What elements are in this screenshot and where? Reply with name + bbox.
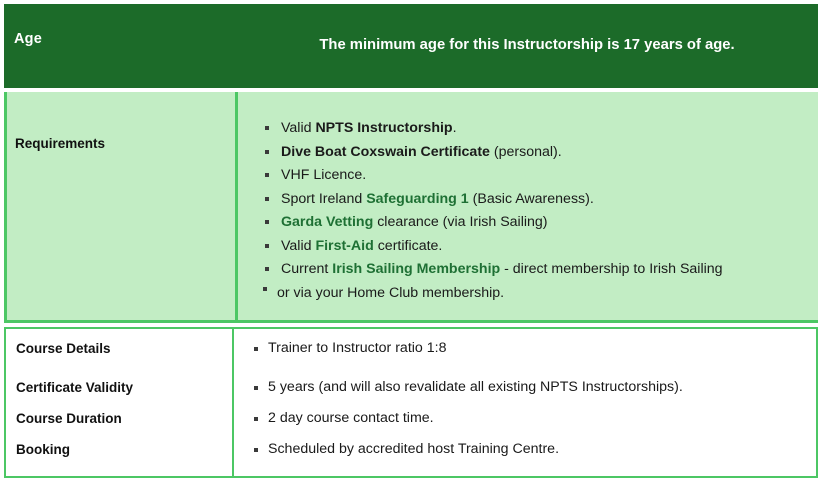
requirements-list-item: or via your Home Club membership. [259,282,808,306]
requirements-list: Valid NPTS Instructorship.Dive Boat Coxs… [259,117,808,305]
instructorship-requirements-table: Age The minimum age for this Instructors… [0,0,826,483]
detail-label-course-duration: Course Duration [16,411,122,426]
detail-value-certificate-validity: 5 years (and will also revalidate all ex… [254,379,683,395]
requirements-text-segment: Safeguarding 1 [366,191,469,207]
detail-value-text: Scheduled by accredited host Training Ce… [268,441,559,457]
age-row-value: The minimum age for this Instructorship … [236,4,818,88]
requirements-text-segment: Current [281,261,332,277]
detail-label-certificate-validity: Certificate Validity [16,380,133,395]
square-bullet-icon [254,417,258,421]
requirements-text-segment: or via your Home Club membership. [277,285,504,301]
detail-value-text: Trainer to Instructor ratio 1:8 [268,340,446,356]
detail-value-course-duration: 2 day course contact time. [254,410,434,426]
requirements-list-item: Valid NPTS Instructorship. [259,117,808,141]
square-bullet-icon [265,267,269,271]
detail-label-course-details: Course Details [16,341,111,356]
requirements-text-segment: certificate. [374,238,443,254]
requirements-text-segment: First-Aid [315,238,373,254]
requirements-text-segment: Irish Sailing Membership [332,261,500,277]
square-bullet-icon [254,448,258,452]
detail-value-booking: Scheduled by accredited host Training Ce… [254,441,559,457]
requirements-list-item: Garda Vetting clearance (via Irish Saili… [259,211,808,235]
requirements-list-item: Current Irish Sailing Membership - direc… [259,258,808,282]
square-bullet-icon [265,150,269,154]
square-bullet-icon [265,244,269,248]
requirements-text-segment: Valid [281,238,315,254]
requirements-list-item: Sport Ireland Safeguarding 1 (Basic Awar… [259,188,808,212]
square-bullet-icon [265,126,269,130]
requirements-text-segment: (personal). [490,144,562,160]
column-divider [232,329,234,476]
requirements-row: Requirements Valid NPTS Instructorship.D… [4,92,818,323]
detail-value-course-details: Trainer to Instructor ratio 1:8 [254,340,446,356]
requirements-text-segment: - direct membership to Irish Sailing [500,261,722,277]
requirements-text-segment: . [453,120,457,136]
requirements-text-segment: Sport Ireland [281,191,366,207]
age-row-label: Age [14,31,42,47]
course-details-row: Course Details Certificate Validity Cour… [4,327,818,478]
square-bullet-icon [265,197,269,201]
square-bullet-icon [265,220,269,224]
square-bullet-icon [254,347,258,351]
requirements-text-segment: VHF Licence. [281,167,366,183]
requirements-text-segment: Dive Boat Coxswain Certificate [281,144,490,160]
detail-label-booking: Booking [16,442,70,457]
requirements-list-item: Valid First-Aid certificate. [259,235,808,259]
requirements-list-item: VHF Licence. [259,164,808,188]
requirements-row-label: Requirements [15,136,105,151]
requirements-text-segment: (Basic Awareness). [469,191,594,207]
column-divider [235,92,238,320]
age-row: Age The minimum age for this Instructors… [4,4,818,88]
detail-value-text: 2 day course contact time. [268,410,434,426]
square-bullet-icon [263,287,267,291]
requirements-text-segment: Valid [281,120,315,136]
requirements-list-item: Dive Boat Coxswain Certificate (personal… [259,141,808,165]
square-bullet-icon [254,386,258,390]
requirements-text-segment: NPTS Instructorship [315,120,452,136]
detail-value-text: 5 years (and will also revalidate all ex… [268,379,683,395]
square-bullet-icon [265,173,269,177]
requirements-text-segment: Garda Vetting [281,214,373,230]
requirements-text-segment: clearance (via Irish Sailing) [373,214,547,230]
